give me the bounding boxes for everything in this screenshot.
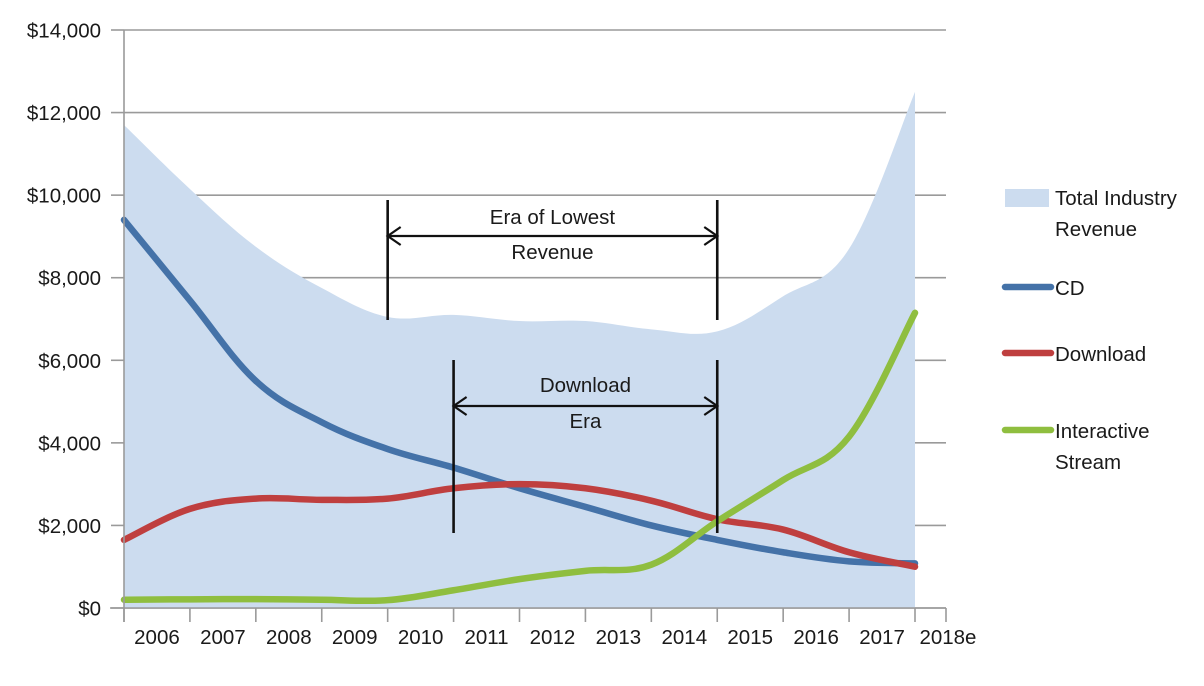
x-axis-tick-label: 2010 — [398, 626, 444, 649]
x-axis-tick-label: 2008 — [266, 626, 312, 649]
y-axis-tick-label: $14,000 — [27, 20, 101, 43]
x-axis-tick-label: 2016 — [793, 626, 839, 649]
y-axis-tick-label: $12,000 — [27, 102, 101, 125]
annotation-label-line1: Era of Lowest — [490, 206, 616, 229]
x-axis-tick-label: 2017 — [859, 626, 905, 649]
chart-container: $0$2,000$4,000$6,000$8,000$10,000$12,000… — [0, 0, 1204, 686]
legend-label-line1: CD — [1055, 277, 1085, 300]
y-axis-tick-label: $2,000 — [38, 515, 101, 538]
legend-label-line2: Revenue — [1055, 218, 1137, 241]
legend-label-line2: Stream — [1055, 451, 1121, 474]
y-axis-tick-label: $0 — [78, 598, 101, 621]
x-axis-tick-label: 2013 — [596, 626, 642, 649]
annotation-label-line1: Download — [540, 374, 631, 397]
annotation-label-line2: Revenue — [511, 241, 593, 264]
legend-label-line1: Total Industry — [1055, 187, 1178, 210]
revenue-area-line-chart: $0$2,000$4,000$6,000$8,000$10,000$12,000… — [0, 0, 1204, 686]
legend-swatch-icon — [1005, 189, 1049, 207]
y-axis-tick-label: $4,000 — [38, 432, 101, 455]
y-axis-tick-label: $6,000 — [38, 350, 101, 373]
x-axis-tick-label: 2012 — [530, 626, 576, 649]
x-axis-tick-label: 2014 — [661, 626, 707, 649]
x-axis-tick-label: 2009 — [332, 626, 378, 649]
x-axis-tick-label: 2011 — [464, 626, 508, 649]
x-axis-tick-label: 2006 — [134, 626, 180, 649]
y-axis-tick-label: $8,000 — [38, 267, 101, 290]
annotation-label-line2: Era — [569, 410, 602, 433]
y-axis-tick-label: $10,000 — [27, 185, 101, 208]
x-axis-tick-label: 2007 — [200, 626, 246, 649]
x-axis-tick-label: 2018e — [919, 626, 976, 649]
x-axis-tick-label: 2015 — [727, 626, 773, 649]
legend-label-line1: Interactive — [1055, 420, 1150, 443]
legend-label-line1: Download — [1055, 343, 1146, 366]
